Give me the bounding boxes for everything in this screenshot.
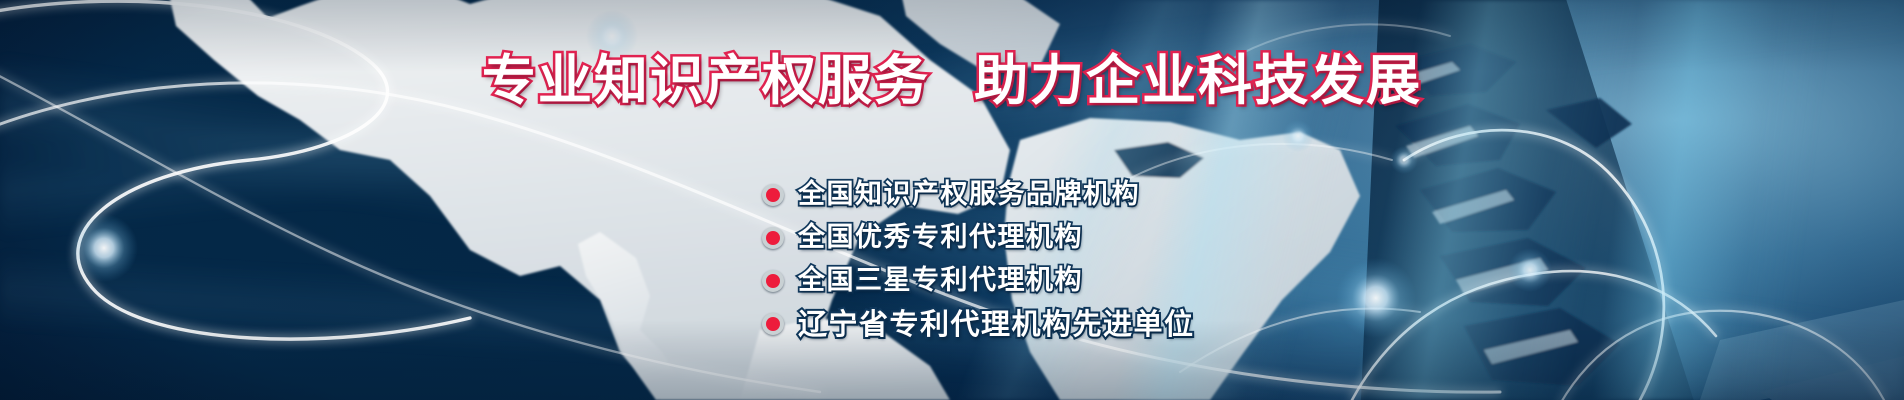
list-item-label: 全国知识产权服务品牌机构: [798, 178, 1140, 212]
list-item-label: 全国三星专利代理机构: [798, 264, 1083, 298]
promo-banner: 专业知识产权服务 助力企业科技发展 全国知识产权服务品牌机构 全国优秀专利代理机…: [0, 0, 1904, 400]
credentials-list: 全国知识产权服务品牌机构 全国优秀专利代理机构 全国三星专利代理机构 辽宁省专利…: [762, 178, 1195, 341]
list-item: 全国优秀专利代理机构: [762, 221, 1195, 255]
list-item-label: 全国优秀专利代理机构: [798, 221, 1083, 255]
red-dot-bullet-icon: [762, 184, 784, 206]
red-dot-bullet-icon: [762, 227, 784, 249]
red-dot-bullet-icon: [762, 313, 784, 335]
list-item: 全国三星专利代理机构: [762, 264, 1195, 298]
list-item: 辽宁省专利代理机构先进单位: [762, 307, 1195, 341]
red-dot-bullet-icon: [762, 270, 784, 292]
list-item-label: 辽宁省专利代理机构先进单位: [798, 307, 1195, 341]
list-item: 全国知识产权服务品牌机构: [762, 178, 1195, 212]
